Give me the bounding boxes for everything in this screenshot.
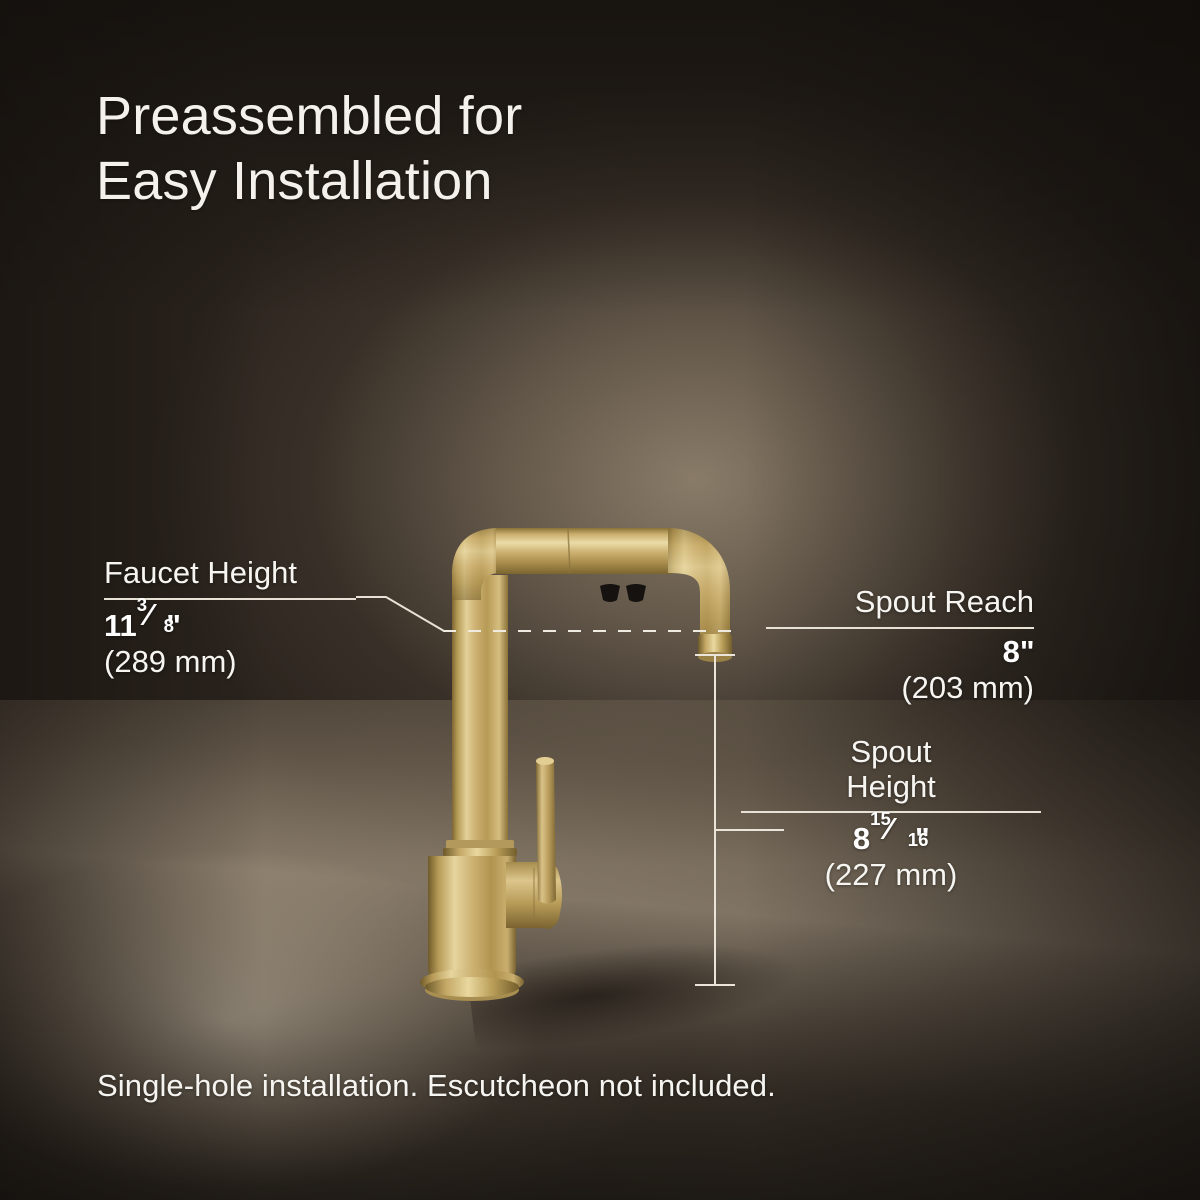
spout-height-tick-bottom <box>695 984 735 986</box>
spout-height-whole: 8 <box>853 821 870 856</box>
spout-height-dimension-line <box>714 654 716 985</box>
spout-reach-whole: 8 <box>1003 634 1020 669</box>
faucet-height-title: Faucet Height <box>104 556 356 591</box>
faucet-height-label: Faucet Height 113⁄8" (289 mm) <box>104 556 356 680</box>
installation-caption: Single-hole installation. Escutcheon not… <box>97 1068 776 1104</box>
spout-reach-value: 8" <box>766 634 1034 670</box>
faucet-height-whole: 11 <box>104 608 137 643</box>
faucet-height-fraction: 3⁄8 <box>137 605 166 636</box>
headline-line-2: Easy Installation <box>96 149 522 214</box>
page-title: Preassembled for Easy Installation <box>96 84 522 214</box>
spout-reach-label: Spout Reach 8" (203 mm) <box>766 585 1034 706</box>
spout-height-metric: (227 mm) <box>741 857 1041 893</box>
spout-height-fraction: 15⁄16 <box>870 818 915 849</box>
spout-reach-underline <box>766 627 1034 629</box>
spout-height-value: 815⁄16" <box>741 818 1041 857</box>
spout-height-title-line-1: Spout <box>741 735 1041 770</box>
headline-line-1: Preassembled for <box>96 84 522 149</box>
faucet-height-value: 113⁄8" <box>104 605 356 644</box>
faucet-height-metric: (289 mm) <box>104 644 356 680</box>
spout-height-tick-top <box>695 654 735 656</box>
spout-reach-inch-mark: " <box>1020 634 1034 669</box>
spout-reach-title: Spout Reach <box>766 585 1034 620</box>
spout-height-title-line-2: Height <box>741 770 1041 805</box>
product-dimension-image: Preassembled for Easy Installation Fauce… <box>0 0 1200 1200</box>
spout-reach-metric: (203 mm) <box>766 670 1034 706</box>
faucet-height-dashed-line <box>443 630 733 632</box>
spout-height-label: Spout Height 815⁄16" (227 mm) <box>741 735 1041 893</box>
